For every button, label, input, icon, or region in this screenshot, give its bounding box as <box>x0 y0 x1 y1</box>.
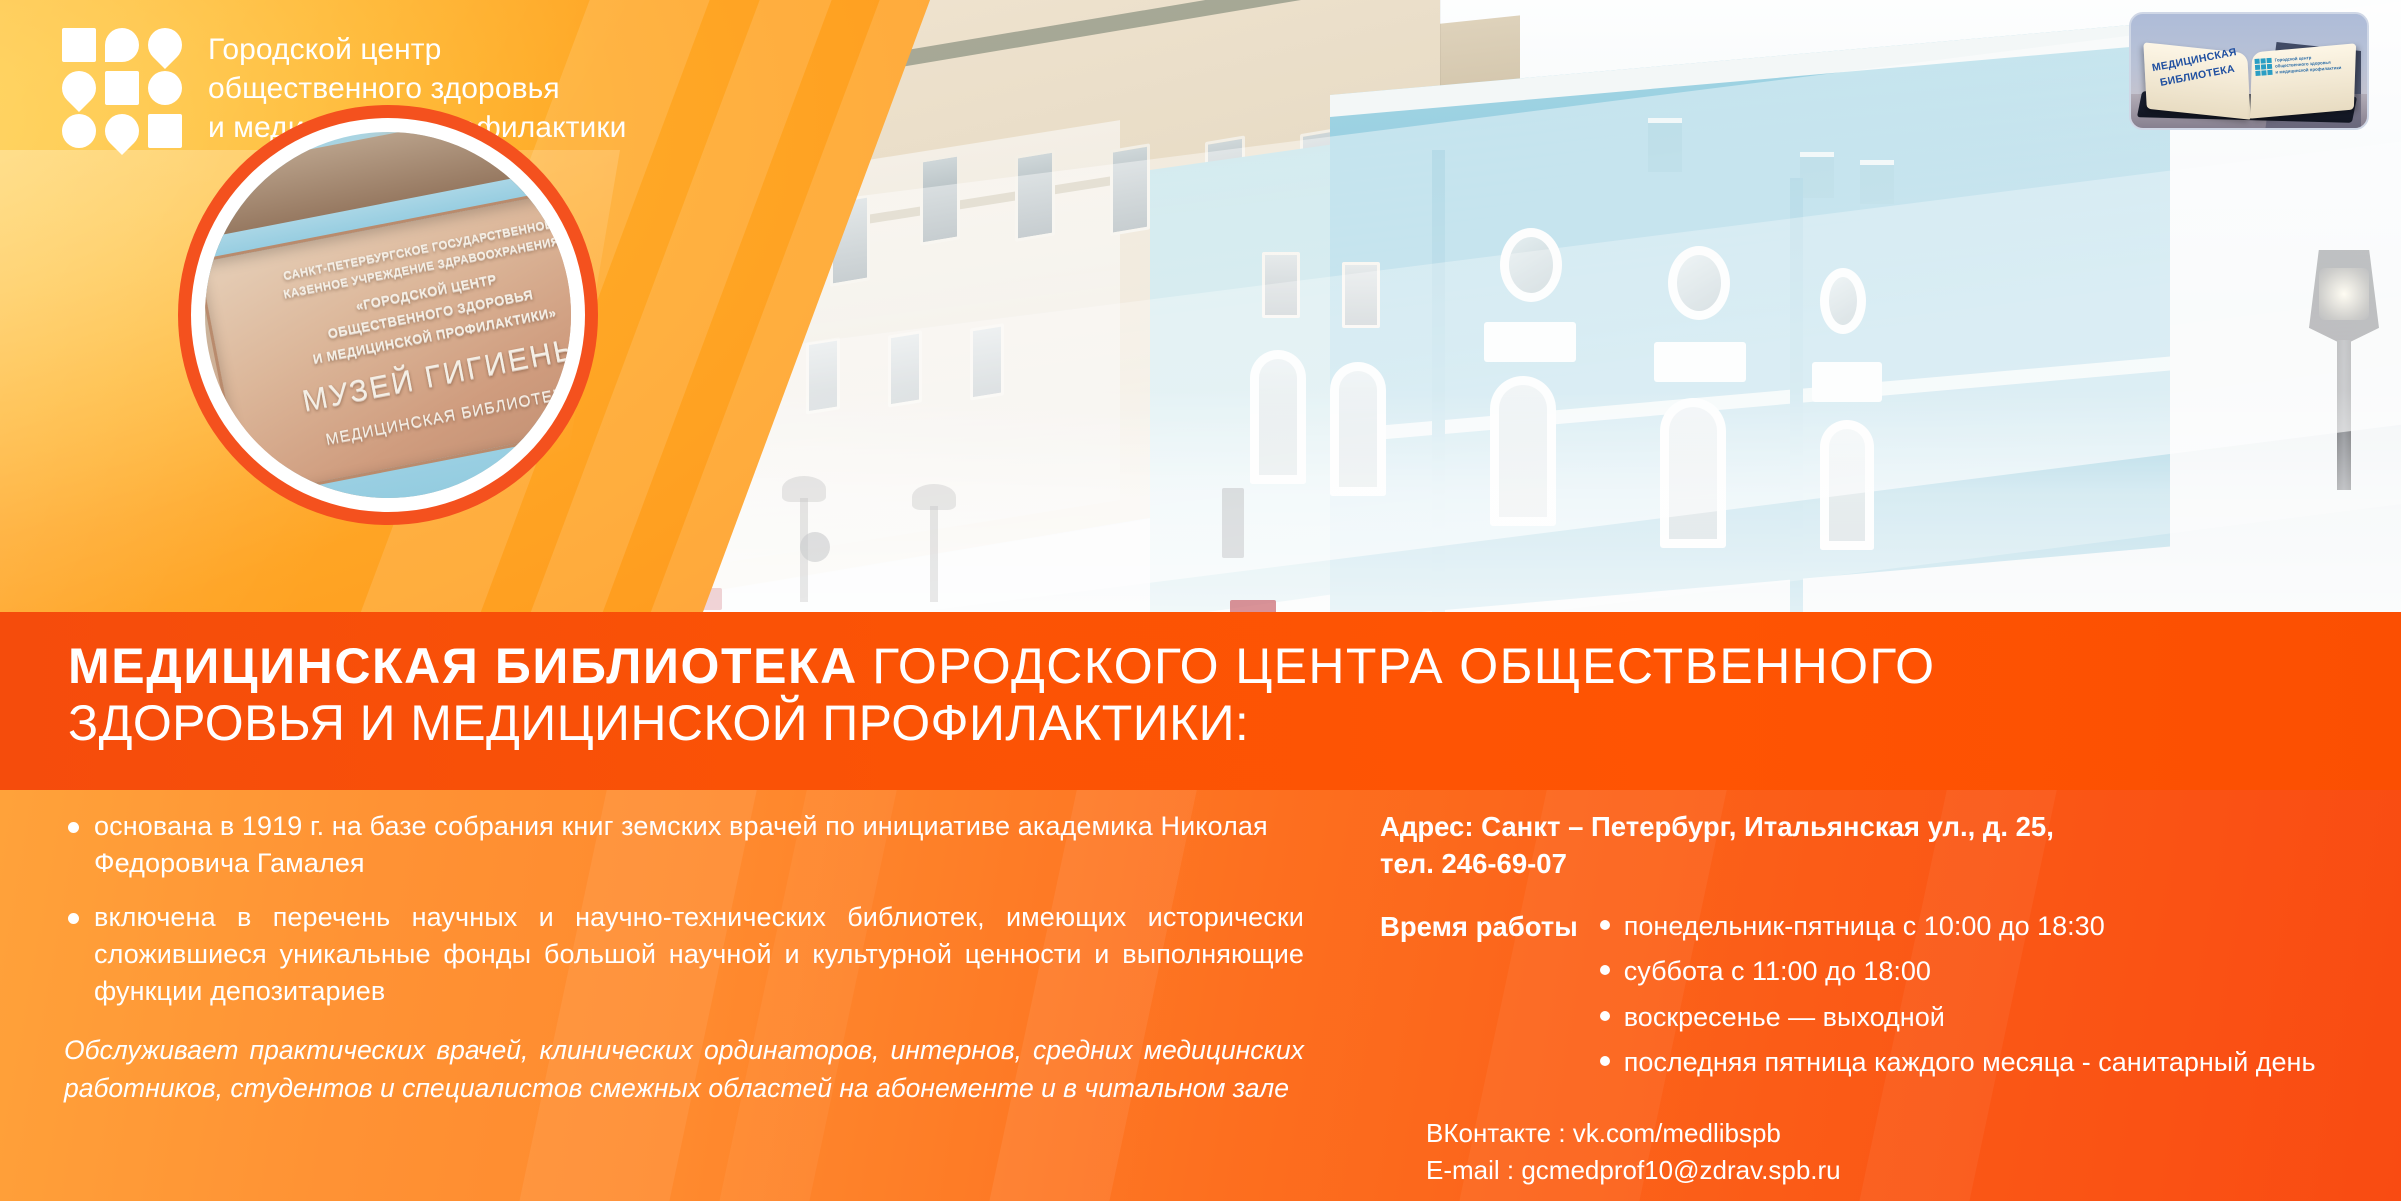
contact-column: Адрес: Санкт – Петербург, Итальянская ул… <box>1380 808 2360 1189</box>
headline-line-2: ЗДОРОВЬЯ И МЕДИЦИНСКОЙ ПРОФИЛАКТИКИ: <box>68 695 2355 752</box>
hours-item: суббота с 11:00 до 18:00 <box>1596 954 2316 989</box>
about-bullet-list: основана в 1919 г. на базе собрания книг… <box>64 808 1304 1010</box>
logo-circle-icon <box>148 71 182 105</box>
logo-heart-icon <box>98 107 146 155</box>
email-link[interactable]: E-mail : gcmedprof10@zdrav.spb.ru <box>1426 1152 2360 1189</box>
headline-light: ГОРОДСКОГО ЦЕНТРА ОБЩЕСТВЕННОГО <box>872 638 1935 694</box>
round-window <box>1820 268 1866 334</box>
window <box>1342 262 1380 328</box>
hours-block: Время работы понедельник-пятница с 10:00… <box>1380 909 2360 1091</box>
hours-item: понедельник-пятница с 10:00 до 18:30 <box>1596 909 2316 944</box>
logo-heart-icon <box>141 21 189 69</box>
poster-root: Городской центр общественного здоровья и… <box>0 0 2401 1201</box>
logo-square-icon <box>148 114 182 148</box>
contacts-block: ВКонтакте : vk.com/medlibspb E-mail : gc… <box>1380 1115 2360 1189</box>
round-window <box>1500 228 1562 302</box>
vk-link[interactable]: ВКонтакте : vk.com/medlibspb <box>1426 1115 2360 1152</box>
stucco-panel <box>1654 342 1746 382</box>
window <box>1262 252 1300 318</box>
street-banner <box>1222 488 1244 558</box>
hours-label: Время работы <box>1380 909 1578 943</box>
chimney <box>1860 160 1894 204</box>
about-bullet-text: основана в 1919 г. на базе собрания книг… <box>94 808 1304 883</box>
chimney <box>1800 152 1834 198</box>
about-bullet-item: основана в 1919 г. на базе собрания книг… <box>64 808 1304 883</box>
plaque-photo: САНКТ-ПЕТЕРБУРГСКОЕ ГОСУДАРСТВЕННОЕ КАЗЕ… <box>205 132 571 498</box>
medical-library-book-badge: МЕДИЦИНСКАЯ БИБЛИОТЕКА Городской центр о… <box>2129 12 2369 130</box>
hours-item: последняя пятница каждого месяца - санит… <box>1596 1045 2316 1080</box>
road-sign <box>800 532 830 562</box>
book-mini-logo-mark-icon <box>2254 58 2272 76</box>
logo-circle-icon <box>62 114 96 148</box>
about-column: основана в 1919 г. на базе собрания книг… <box>64 808 1304 1108</box>
headline-bold: МЕДИЦИНСКАЯ БИБЛИОТЕКА <box>68 638 858 694</box>
street-lamp-icon <box>930 506 938 602</box>
body-section: основана в 1919 г. на базе собрания книг… <box>0 790 2401 1201</box>
logo-teardrop-icon <box>105 28 139 62</box>
headline-line-1: МЕДИЦИНСКАЯ БИБЛИОТЕКА ГОРОДСКОГО ЦЕНТРА… <box>68 638 2355 695</box>
hours-list: понедельник-пятница с 10:00 до 18:30 суб… <box>1596 909 2316 1091</box>
about-italic-note: Обслуживает практических врачей, клиниче… <box>64 1032 1304 1107</box>
address-line-2: тел. 246-69-07 <box>1380 845 2360 882</box>
logo-mark-icon <box>62 28 182 148</box>
headline-bar: МЕДИЦИНСКАЯ БИБЛИОТЕКА ГОРОДСКОГО ЦЕНТРА… <box>0 612 2401 790</box>
address-line-1: Адрес: Санкт – Петербург, Итальянская ул… <box>1380 808 2360 845</box>
logo-heart-icon <box>55 64 103 112</box>
plaque-photo-inset: САНКТ-ПЕТЕРБУРГСКОЕ ГОСУДАРСТВЕННОЕ КАЗЕ… <box>178 105 598 525</box>
chimney <box>1648 118 1682 172</box>
header-photo: Городской центр общественного здоровья и… <box>0 0 2401 620</box>
logo-square-icon <box>105 71 139 105</box>
round-window <box>1668 246 1730 320</box>
stucco-panel <box>1484 322 1576 362</box>
address-block: Адрес: Санкт – Петербург, Итальянская ул… <box>1380 808 2360 883</box>
logo-square-icon <box>62 28 96 62</box>
about-bullet-text: включена в перечень научных и научно-тех… <box>94 899 1304 1011</box>
hours-item: воскресенье — выходной <box>1596 1000 2316 1035</box>
about-bullet-item: включена в перечень научных и научно-тех… <box>64 899 1304 1011</box>
